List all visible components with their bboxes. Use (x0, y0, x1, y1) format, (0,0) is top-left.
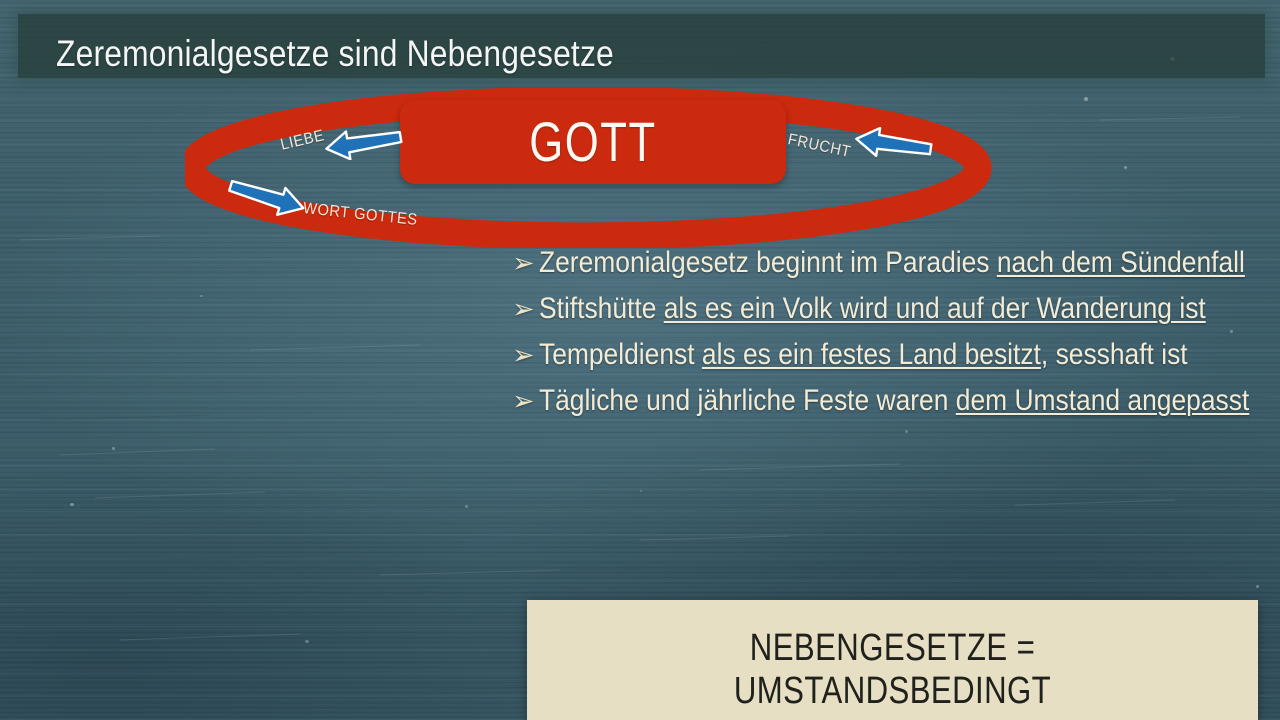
wort-gottes-arrow-icon (224, 178, 310, 216)
bullet-underlined: als es ein festes Land besitzt (702, 338, 1041, 371)
bullet-plain-start: Tempeldienst (539, 338, 702, 371)
bullet-plain-start: Stiftshütte (539, 292, 664, 325)
bullet-text: Stiftshütte als es ein Volk wird und auf… (539, 292, 1206, 326)
bullet-text: Tägliche und jährliche Feste waren dem U… (539, 384, 1249, 418)
slide-canvas: Zeremonialgesetze sind Nebengesetze GOTT (0, 0, 1280, 720)
list-item: ➢ Tempeldienst als es ein festes Land be… (512, 338, 1272, 384)
bullet-underlined: als es ein Volk wird und auf der Wanderu… (663, 292, 1205, 325)
list-item: ➢ Stiftshütte als es ein Volk wird und a… (512, 292, 1272, 338)
bullet-list: ➢ Zeremonialgesetz beginnt im Paradies n… (512, 246, 1272, 430)
bullet-plain-start: Zeremonialgesetz beginnt im Paradies (539, 246, 997, 279)
bullet-arrow-icon: ➢ (512, 250, 535, 277)
bullet-plain-start: Tägliche und jährliche Feste waren (539, 384, 956, 417)
bullet-text: Tempeldienst als es ein festes Land besi… (539, 338, 1188, 372)
frucht-arrow-icon (852, 127, 934, 161)
bullet-underlined: nach dem Sündenfall (996, 246, 1244, 279)
bullet-text: Zeremonialgesetz beginnt im Paradies nac… (539, 246, 1245, 280)
bullet-arrow-icon: ➢ (512, 296, 535, 323)
liebe-arrow-icon (322, 126, 404, 160)
gott-label: GOTT (442, 109, 743, 174)
bullet-arrow-icon: ➢ (512, 342, 535, 369)
bullet-plain-end: , sesshaft ist (1041, 338, 1188, 371)
bullet-arrow-icon: ➢ (512, 388, 535, 415)
list-item: ➢ Zeremonialgesetz beginnt im Paradies n… (512, 246, 1272, 292)
gott-cycle-diagram: GOTT LIEBE FRUCHT WORT GOTTES (0, 0, 1280, 250)
conclusion-banner-text: NEBENGESETZE = UMSTANDSBEDINGT (593, 627, 1192, 713)
list-item: ➢ Tägliche und jährliche Feste waren dem… (512, 384, 1272, 430)
conclusion-banner: NEBENGESETZE = UMSTANDSBEDINGT (527, 600, 1258, 720)
gott-center-box: GOTT (400, 100, 786, 184)
bullet-underlined: dem Umstand angepasst (955, 384, 1248, 417)
